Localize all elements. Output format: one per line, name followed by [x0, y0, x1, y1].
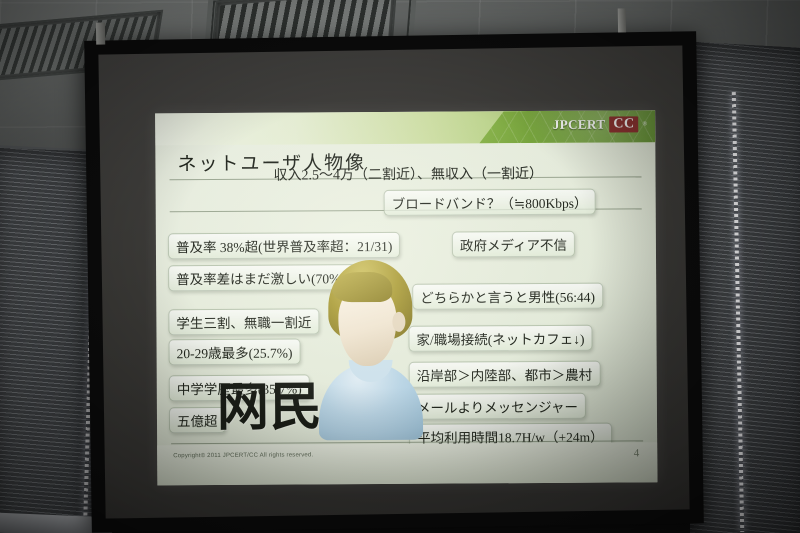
screen-surface: JPCERT CC ® ネットユーザ人物像 収入2.5〜4万（二割近）、無収入（…: [98, 45, 689, 518]
screen-mount-left-icon: [96, 23, 105, 45]
window-blind-right: [690, 42, 800, 533]
slide-banner: JPCERT CC ®: [155, 110, 655, 145]
presentation-slide: JPCERT CC ® ネットユーザ人物像 収入2.5〜4万（二割近）、無収入（…: [155, 110, 657, 485]
right-item-2: 家/職場接続(ネットカフェ↓): [408, 325, 592, 352]
brush-calligraphy-word: 网民: [217, 364, 323, 440]
top-line-0: 収入2.5〜4万（二割近）、無収入（一割近）: [273, 163, 543, 185]
slide-footer: [157, 442, 657, 485]
logo-badge-text: CC: [609, 116, 638, 132]
page-number: 4: [634, 447, 640, 459]
projection-screen: JPCERT CC ® ネットユーザ人物像 収入2.5〜4万（二割近）、無収入（…: [84, 31, 704, 533]
registered-mark-icon: ®: [643, 121, 648, 127]
screen-mount-right-icon: [618, 8, 626, 32]
right-item-3: 沿岸部＞内陸部、都市＞農村: [409, 361, 601, 388]
photo-scene: JPCERT CC ® ネットユーザ人物像 収入2.5〜4万（二割近）、無収入（…: [0, 0, 800, 533]
logo-primary-text: JPCERT: [553, 117, 606, 133]
avatar-fringe: [332, 272, 392, 302]
top-line-1: ブロードバンド？（≒800Kbps）: [384, 189, 596, 216]
left-item-0: 普及率 38%超(世界普及率超：21/31): [168, 232, 401, 259]
left-item-3: 20-29歳最多(25.7%): [168, 338, 300, 365]
right-item-0: 政府メディア不信: [452, 231, 575, 258]
jpcert-logo-text: JPCERT CC ®: [553, 116, 647, 133]
right-item-4: メールよりメッセンジャー: [409, 393, 586, 420]
copyright-text: Copyright© 2011 JPCERT/CC All rights res…: [173, 452, 313, 459]
right-item-1: どちらかと言うと男性(56:44): [412, 283, 603, 310]
person-avatar: [314, 260, 427, 439]
left-item-2: 学生三割、無職一割近: [168, 308, 319, 335]
avatar-ear: [392, 312, 405, 332]
